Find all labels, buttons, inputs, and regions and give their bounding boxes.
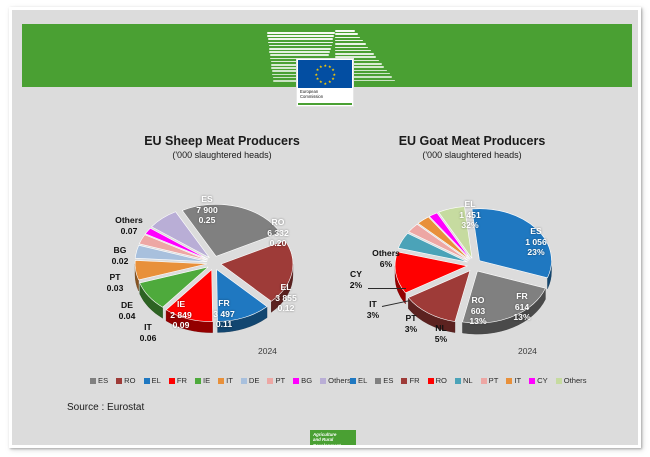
sheep-it-code: IT [131,322,165,333]
sheep-de-share: 0.04 [110,311,144,322]
legend-swatch-icon [293,378,299,384]
goat-slice-label-it: IT 3% [359,299,387,320]
eu-star-icon: ★ [324,82,327,85]
goat-chart-title: EU Goat Meat Producers [342,134,602,148]
fan-stripe [268,42,332,44]
sheep-ie-code: IE [157,299,205,310]
fan-stripe [268,38,334,40]
eu-star-icon: ★ [319,65,322,68]
fan-stripe [335,37,360,39]
goat-es-code: ES [510,226,562,237]
sheep-pt-share: 0.03 [98,283,132,294]
footer-badge-text: Agriculture and Rural Development [313,432,355,445]
legend-swatch-icon [144,378,150,384]
fan-stripe [335,53,374,55]
fan-stripe [267,32,335,34]
eu-star-icon: ★ [328,80,331,83]
goat-el-code: EL [444,199,496,210]
slide-frame: ★★★★★★★★★★★★ European Commission EU Shee… [9,7,641,448]
sheep-fr-code: FR [200,298,248,309]
eu-star-icon: ★ [316,77,319,80]
goat-slice-label-fr: FR 614 13% [499,291,545,323]
goat-slice-label-ro: RO 603 13% [455,295,501,327]
legend-swatch-icon [116,378,122,384]
eu-star-icon: ★ [319,80,322,83]
legend-item[interactable]: IT [506,376,521,385]
fan-stripe [335,47,368,49]
goat-fr-value: 614 [499,302,545,313]
ec-logo-underline [298,103,352,106]
legend-swatch-icon [241,378,247,384]
sheep-slice-label-ro: RO 6 332 0.20 [252,217,304,249]
sheep-el-share: 0.12 [261,303,311,314]
goat-fr-share: 13% [499,312,545,323]
legend-swatch-icon [350,378,356,384]
sheep-slice-label-bg: BG 0.02 [103,245,137,266]
legend-item[interactable]: CY [529,376,548,385]
sheep-de-code: DE [110,300,144,311]
sheep-legend[interactable]: ESROELFRIEITDEPTBGOthers [90,376,356,385]
sheep-ro-share: 0.20 [252,238,304,249]
sheep-fr-value: 3 497 [200,309,248,320]
legend-label: IE [203,376,210,385]
goat-slice-label-es: ES 1 056 23% [510,226,562,258]
legend-item[interactable]: ES [90,376,108,385]
fan-stripe [335,50,371,52]
goat-slice-label-others: Others 6% [362,248,410,269]
fan-stripe [335,33,358,35]
agriculture-rural-development-badge: Agriculture and Rural Development [310,430,356,445]
legend-swatch-icon [375,378,381,384]
sheep-ie-value: 2 849 [157,310,205,321]
legend-label: RO [436,376,447,385]
legend-item[interactable]: BG [293,376,312,385]
legend-item[interactable]: ES [375,376,393,385]
goat-legend[interactable]: ELESFRRONLPTITCYOthers [350,376,592,385]
legend-item[interactable]: Others [320,376,351,385]
legend-item[interactable]: EL [144,376,161,385]
legend-item[interactable]: PT [267,376,285,385]
european-commission-logo: ★★★★★★★★★★★★ European Commission [296,58,354,107]
goat-others-code: Others [362,248,410,259]
fan-stripe [267,35,334,37]
legend-label: CY [537,376,548,385]
legend-swatch-icon [90,378,96,384]
legend-label: NL [463,376,473,385]
goat-nl-share: 5% [427,334,455,345]
legend-label: PT [275,376,285,385]
goat-ro-code: RO [455,295,501,306]
sheep-slice-label-fr: FR 3 497 0.11 [200,298,248,330]
eu-star-icon: ★ [324,64,327,67]
fan-stripe [269,51,330,53]
legend-label: ES [98,376,108,385]
sheep-fr-share: 0.11 [200,319,248,330]
sheep-el-value: 3 855 [261,293,311,304]
goat-cy-leader-line [368,288,406,289]
legend-swatch-icon [428,378,434,384]
eu-flag-icon: ★★★★★★★★★★★★ [298,60,352,88]
legend-label: PT [489,376,499,385]
goat-slice-label-el: EL 1 451 32% [444,199,496,231]
sheep-ro-code: RO [252,217,304,228]
fan-stripe [335,43,366,45]
legend-item[interactable]: DE [241,376,260,385]
eu-star-icon: ★ [331,68,334,71]
goat-pt-share: 3% [397,324,425,335]
legend-swatch-icon [506,378,512,384]
goat-es-value: 1 056 [510,237,562,248]
sheep-bg-code: BG [103,245,137,256]
goat-others-share: 6% [362,259,410,270]
eu-star-icon: ★ [315,73,318,76]
legend-label: Others [328,376,351,385]
sheep-slice-label-pt: PT 0.03 [98,272,132,293]
legend-item[interactable]: IE [195,376,210,385]
sheep-es-share: 0.25 [180,215,234,226]
legend-swatch-icon [401,378,407,384]
goat-it-code: IT [359,299,387,310]
legend-swatch-icon [455,378,461,384]
legend-label: Others [564,376,587,385]
legend-label: BG [301,376,312,385]
sheep-bg-share: 0.02 [103,256,137,267]
ec-logo-text: European Commission [300,89,350,99]
goat-it-share: 3% [359,310,387,321]
legend-swatch-icon [218,378,224,384]
legend-label: FR [177,376,187,385]
sheep-slice-label-es: ES 7 900 0.25 [180,194,234,226]
sheep-es-value: 7 900 [180,205,234,216]
goat-pt-code: PT [397,313,425,324]
legend-swatch-icon [169,378,175,384]
goat-nl-code: NL [427,323,455,334]
legend-label: IT [226,376,233,385]
legend-swatch-icon [267,378,273,384]
legend-item[interactable]: RO [428,376,447,385]
ec-logo-line2: Commission [300,94,350,99]
fan-stripe [269,45,332,47]
legend-item[interactable]: PT [481,376,499,385]
legend-swatch-icon [529,378,535,384]
legend-label: EL [152,376,161,385]
sheep-slice-label-el: EL 3 855 0.12 [261,282,311,314]
sheep-slice-label-it: IT 0.06 [131,322,165,343]
legend-item[interactable]: NL [455,376,473,385]
legend-swatch-icon [556,378,562,384]
goat-es-share: 23% [510,247,562,258]
goat-chart-subtitle: ('000 slaughtered heads) [342,150,602,160]
legend-label: DE [249,376,260,385]
sheep-slice-label-others: Others 0.07 [105,215,153,236]
legend-item[interactable]: FR [401,376,419,385]
goat-slice-label-nl: NL 5% [427,323,455,344]
sheep-chart-title: EU Sheep Meat Producers [92,134,352,148]
fan-stripe [335,30,355,32]
legend-item[interactable]: EL [350,376,367,385]
legend-label: FR [409,376,419,385]
legend-label: RO [124,376,135,385]
sheep-others-share: 0.07 [105,226,153,237]
fan-stripe [269,48,331,50]
sheep-ro-value: 6 332 [252,228,304,239]
footer-badge-line3: Development [313,443,355,445]
goat-el-share: 32% [444,220,496,231]
goat-fr-code: FR [499,291,545,302]
goat-el-value: 1 451 [444,210,496,221]
goat-ro-value: 603 [455,306,501,317]
legend-label: EL [358,376,367,385]
legend-item[interactable]: RO [116,376,135,385]
sheep-others-code: Others [105,215,153,226]
legend-item[interactable]: Others [556,376,587,385]
legend-item[interactable]: FR [169,376,187,385]
sheep-year-label: 2024 [258,346,277,356]
goat-ro-share: 13% [455,316,501,327]
goat-slice-label-cy: CY 2% [342,269,370,290]
sheep-slice-label-de: DE 0.04 [110,300,144,321]
sheep-el-code: EL [261,282,311,293]
sheep-it-share: 0.06 [131,333,165,344]
legend-label: IT [514,376,521,385]
sheep-pt-code: PT [98,272,132,283]
legend-swatch-icon [195,378,201,384]
fan-stripe [335,40,363,42]
legend-swatch-icon [481,378,487,384]
goat-slice-label-pt: PT 3% [397,313,425,334]
sheep-es-code: ES [180,194,234,205]
legend-swatch-icon [320,378,326,384]
goat-cy-code: CY [342,269,370,280]
fan-stripe [270,54,330,56]
goat-cy-share: 2% [342,280,370,291]
source-note: Source : Eurostat [67,402,144,413]
legend-label: ES [383,376,393,385]
legend-item[interactable]: IT [218,376,233,385]
goat-year-label: 2024 [518,346,537,356]
sheep-chart-subtitle: ('000 slaughtered heads) [92,150,352,160]
